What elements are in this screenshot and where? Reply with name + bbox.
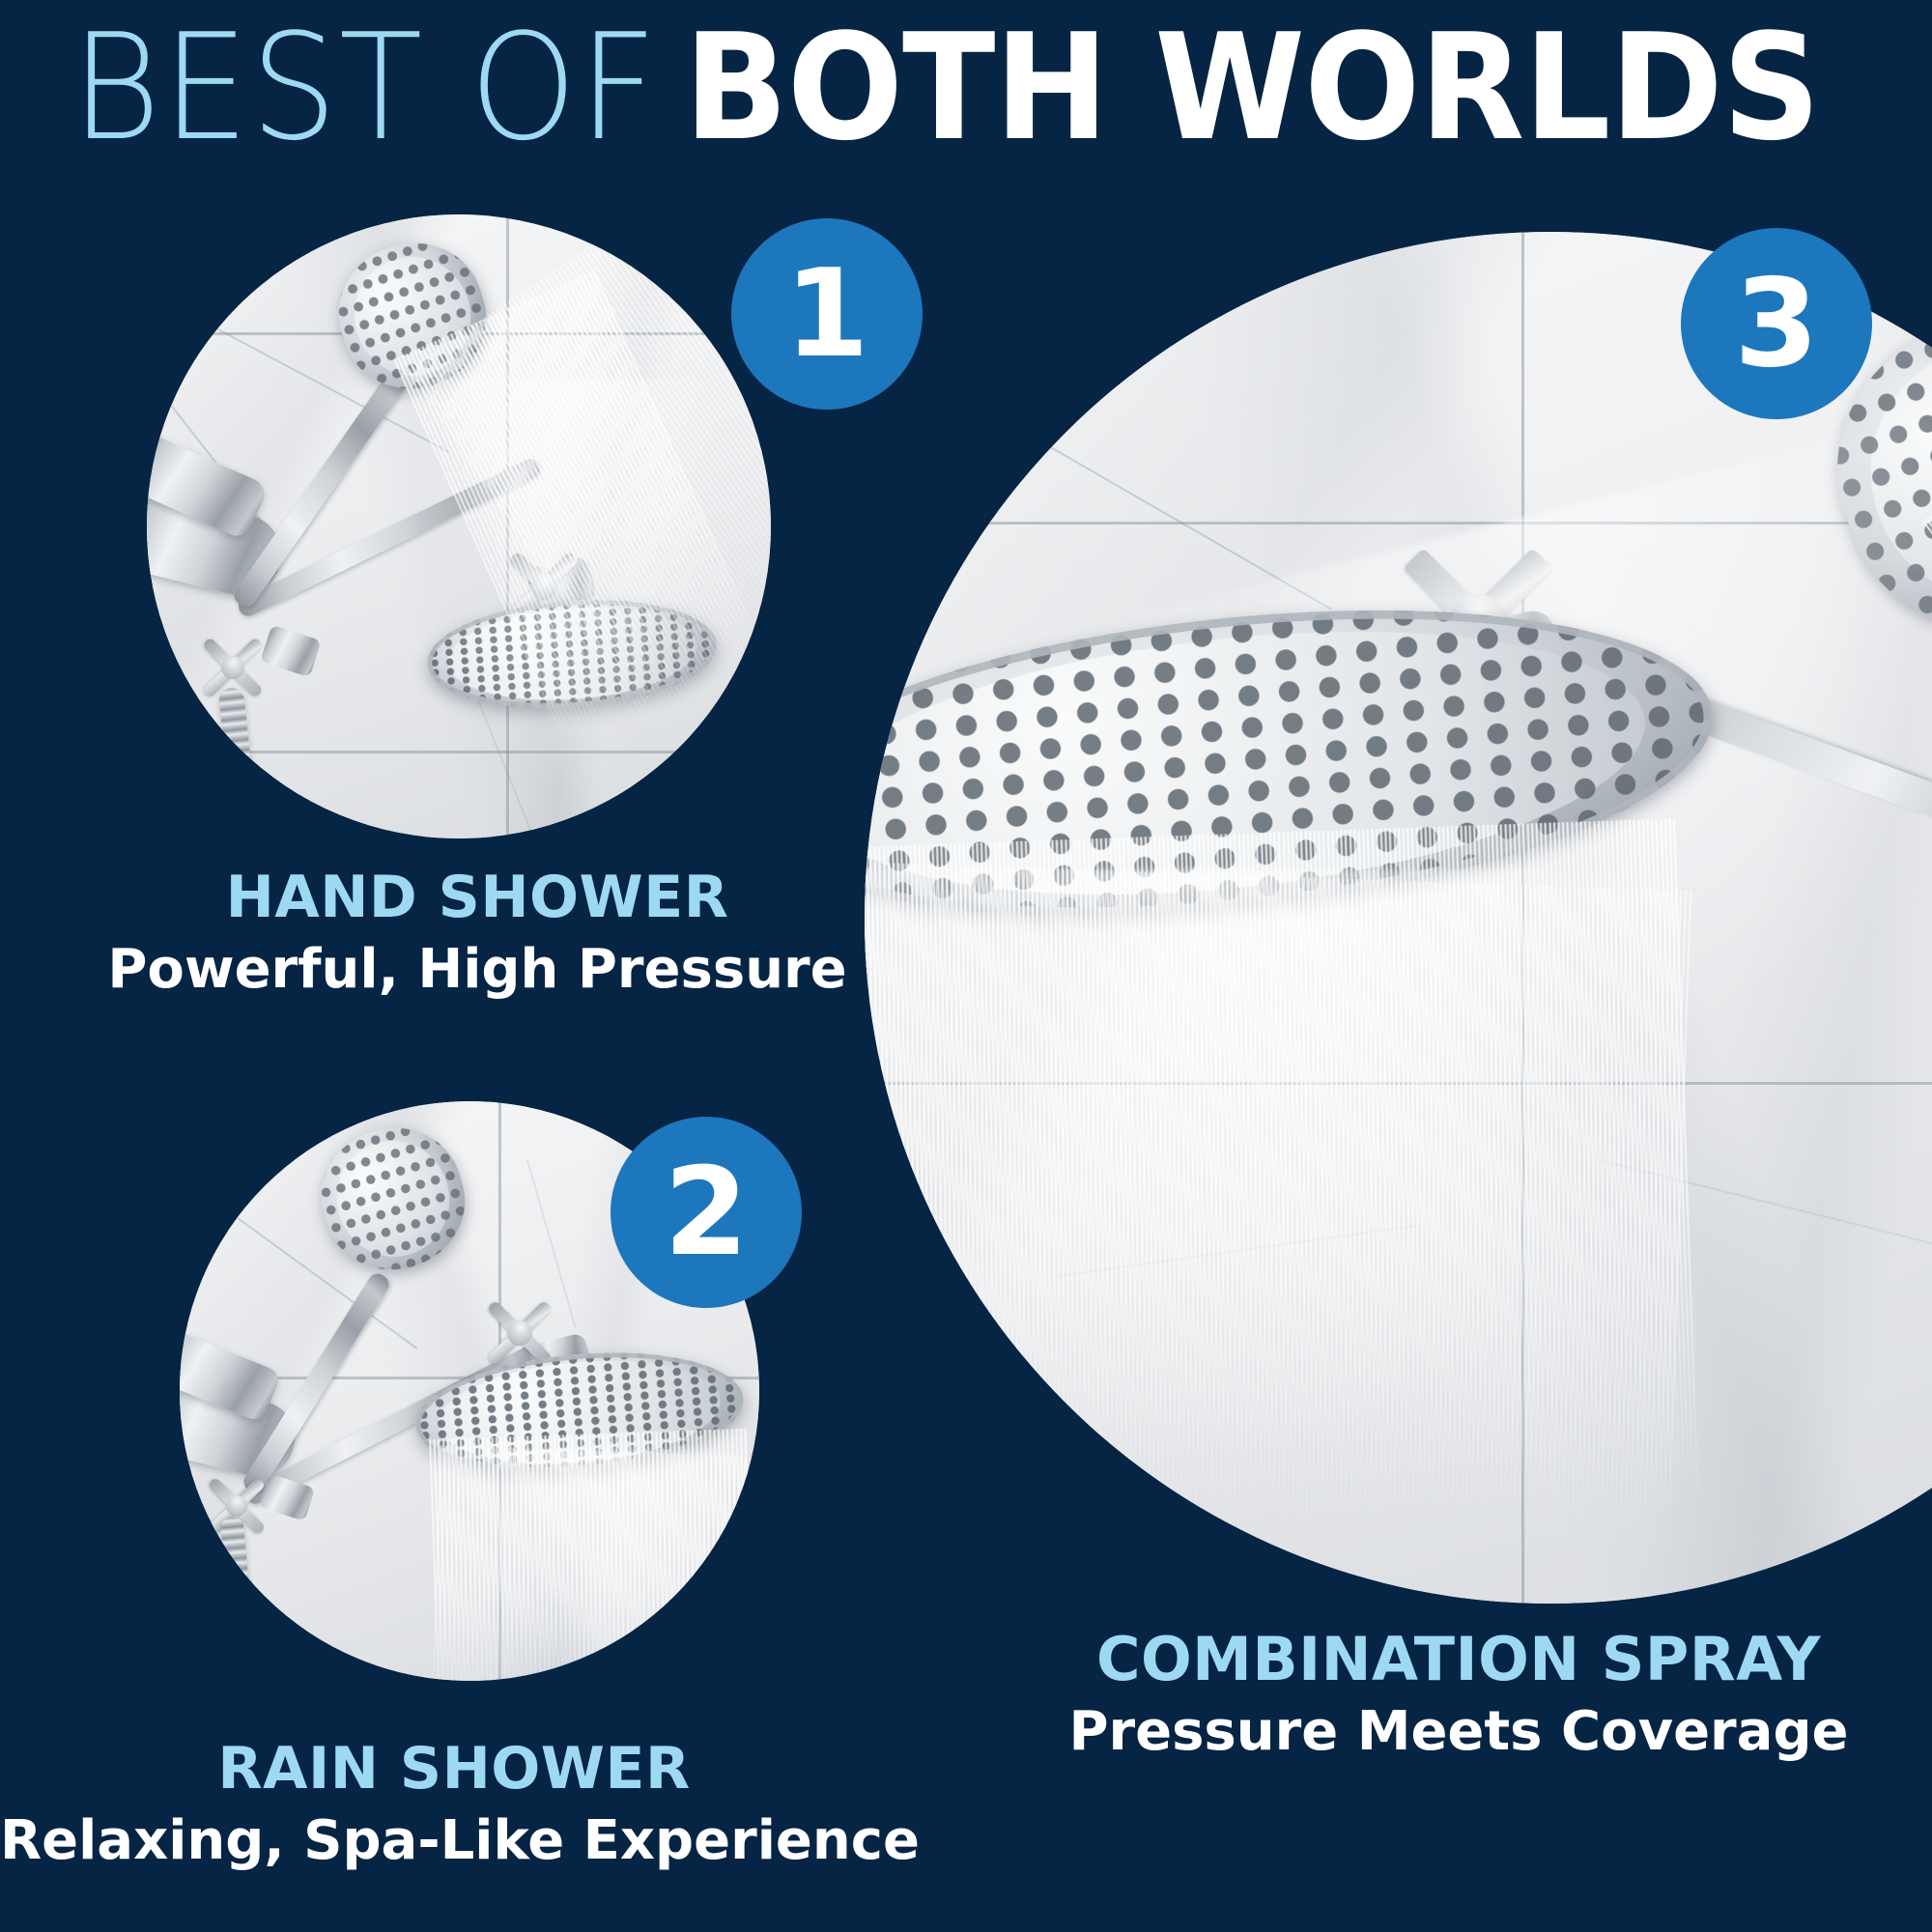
feature-caption-rain-shower: RAIN SHOWER Relaxing, Spa-Like Experienc… [0, 1739, 908, 1869]
badge-number: 2 [664, 1151, 749, 1273]
tile-grout-line [1521, 232, 1524, 1604]
feature-caption-hand-shower: HAND SHOWER Powerful, High Pressure [0, 867, 954, 998]
infographic-page: BEST OF BOTH WORLDS [0, 0, 1932, 1932]
tile-grout-line [865, 1082, 1932, 1085]
feature-badge-3: 3 [1681, 228, 1872, 419]
feature-title: HAND SHOWER [0, 867, 954, 929]
rain-shower-head [424, 591, 721, 718]
page-title: BEST OF BOTH WORLDS [0, 15, 1932, 160]
headline-light-text: BEST OF [71, 14, 658, 161]
badge-number: 3 [1734, 263, 1819, 384]
feature-subtitle: Relaxing, Spa-Like Experience [0, 1812, 908, 1869]
feature-title: COMBINATION SPRAY [985, 1628, 1932, 1691]
feature-photo-hand-shower [147, 214, 771, 838]
tile-grout-line [865, 522, 1932, 525]
headline-bold-text: BOTH WORLDS [684, 14, 1820, 161]
feature-photo-combination-spray [865, 232, 1932, 1604]
feature-subtitle: Powerful, High Pressure [0, 941, 954, 998]
tile-grout-line [506, 214, 509, 838]
feature-title: RAIN SHOWER [0, 1739, 908, 1801]
feature-caption-combination-spray: COMBINATION SPRAY Pressure Meets Coverag… [985, 1628, 1932, 1760]
badge-number: 1 [784, 253, 869, 375]
feature-badge-2: 2 [611, 1117, 802, 1308]
feature-subtitle: Pressure Meets Coverage [985, 1703, 1932, 1760]
